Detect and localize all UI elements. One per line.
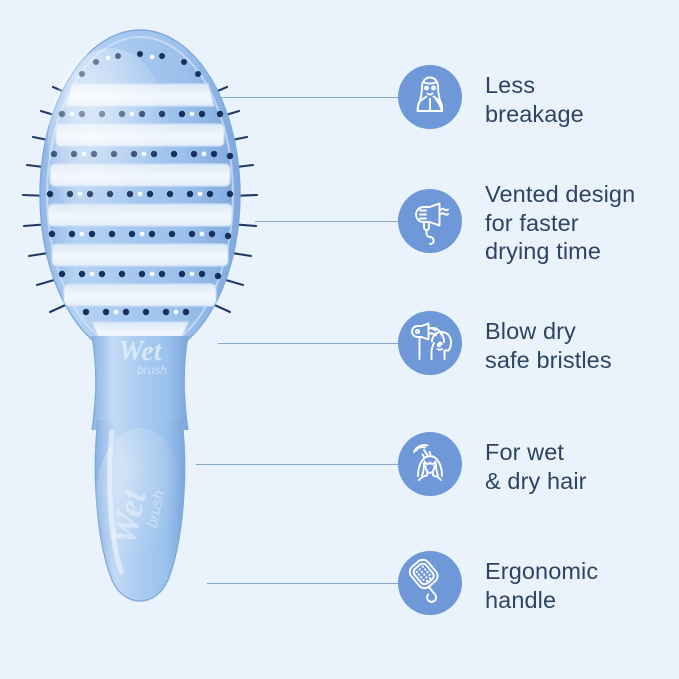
woman-hair-strand-icon[interactable] xyxy=(398,65,462,129)
connector-line-vented-design xyxy=(255,221,398,222)
paddle-brush-icon[interactable] xyxy=(398,551,462,615)
feature-label-vented-design: Vented design for faster drying time xyxy=(485,177,679,269)
feature-label-for-wet-and-dry-hair: For wet & dry hair xyxy=(485,432,679,502)
connector-line-less-breakage xyxy=(218,97,398,98)
connector-line-ergonomic-handle xyxy=(207,583,398,584)
feature-label-ergonomic-handle: Ergonomic handle xyxy=(485,551,679,621)
blow-dry-face-icon[interactable] xyxy=(398,311,462,375)
infographic-page: Wet brush Wet brush xyxy=(0,0,679,679)
feature-label-blow-dry-safe-bristles: Blow dry safe bristles xyxy=(485,311,679,381)
connector-line-blow-dry-safe-bristles xyxy=(218,343,398,344)
shower-woman-icon[interactable] xyxy=(398,432,462,496)
hair-dryer-icon[interactable] xyxy=(398,189,462,253)
feature-list: Less breakage Vented design for faster d… xyxy=(0,0,679,679)
feature-label-less-breakage: Less breakage xyxy=(485,65,679,135)
connector-line-for-wet-and-dry-hair xyxy=(196,464,398,465)
